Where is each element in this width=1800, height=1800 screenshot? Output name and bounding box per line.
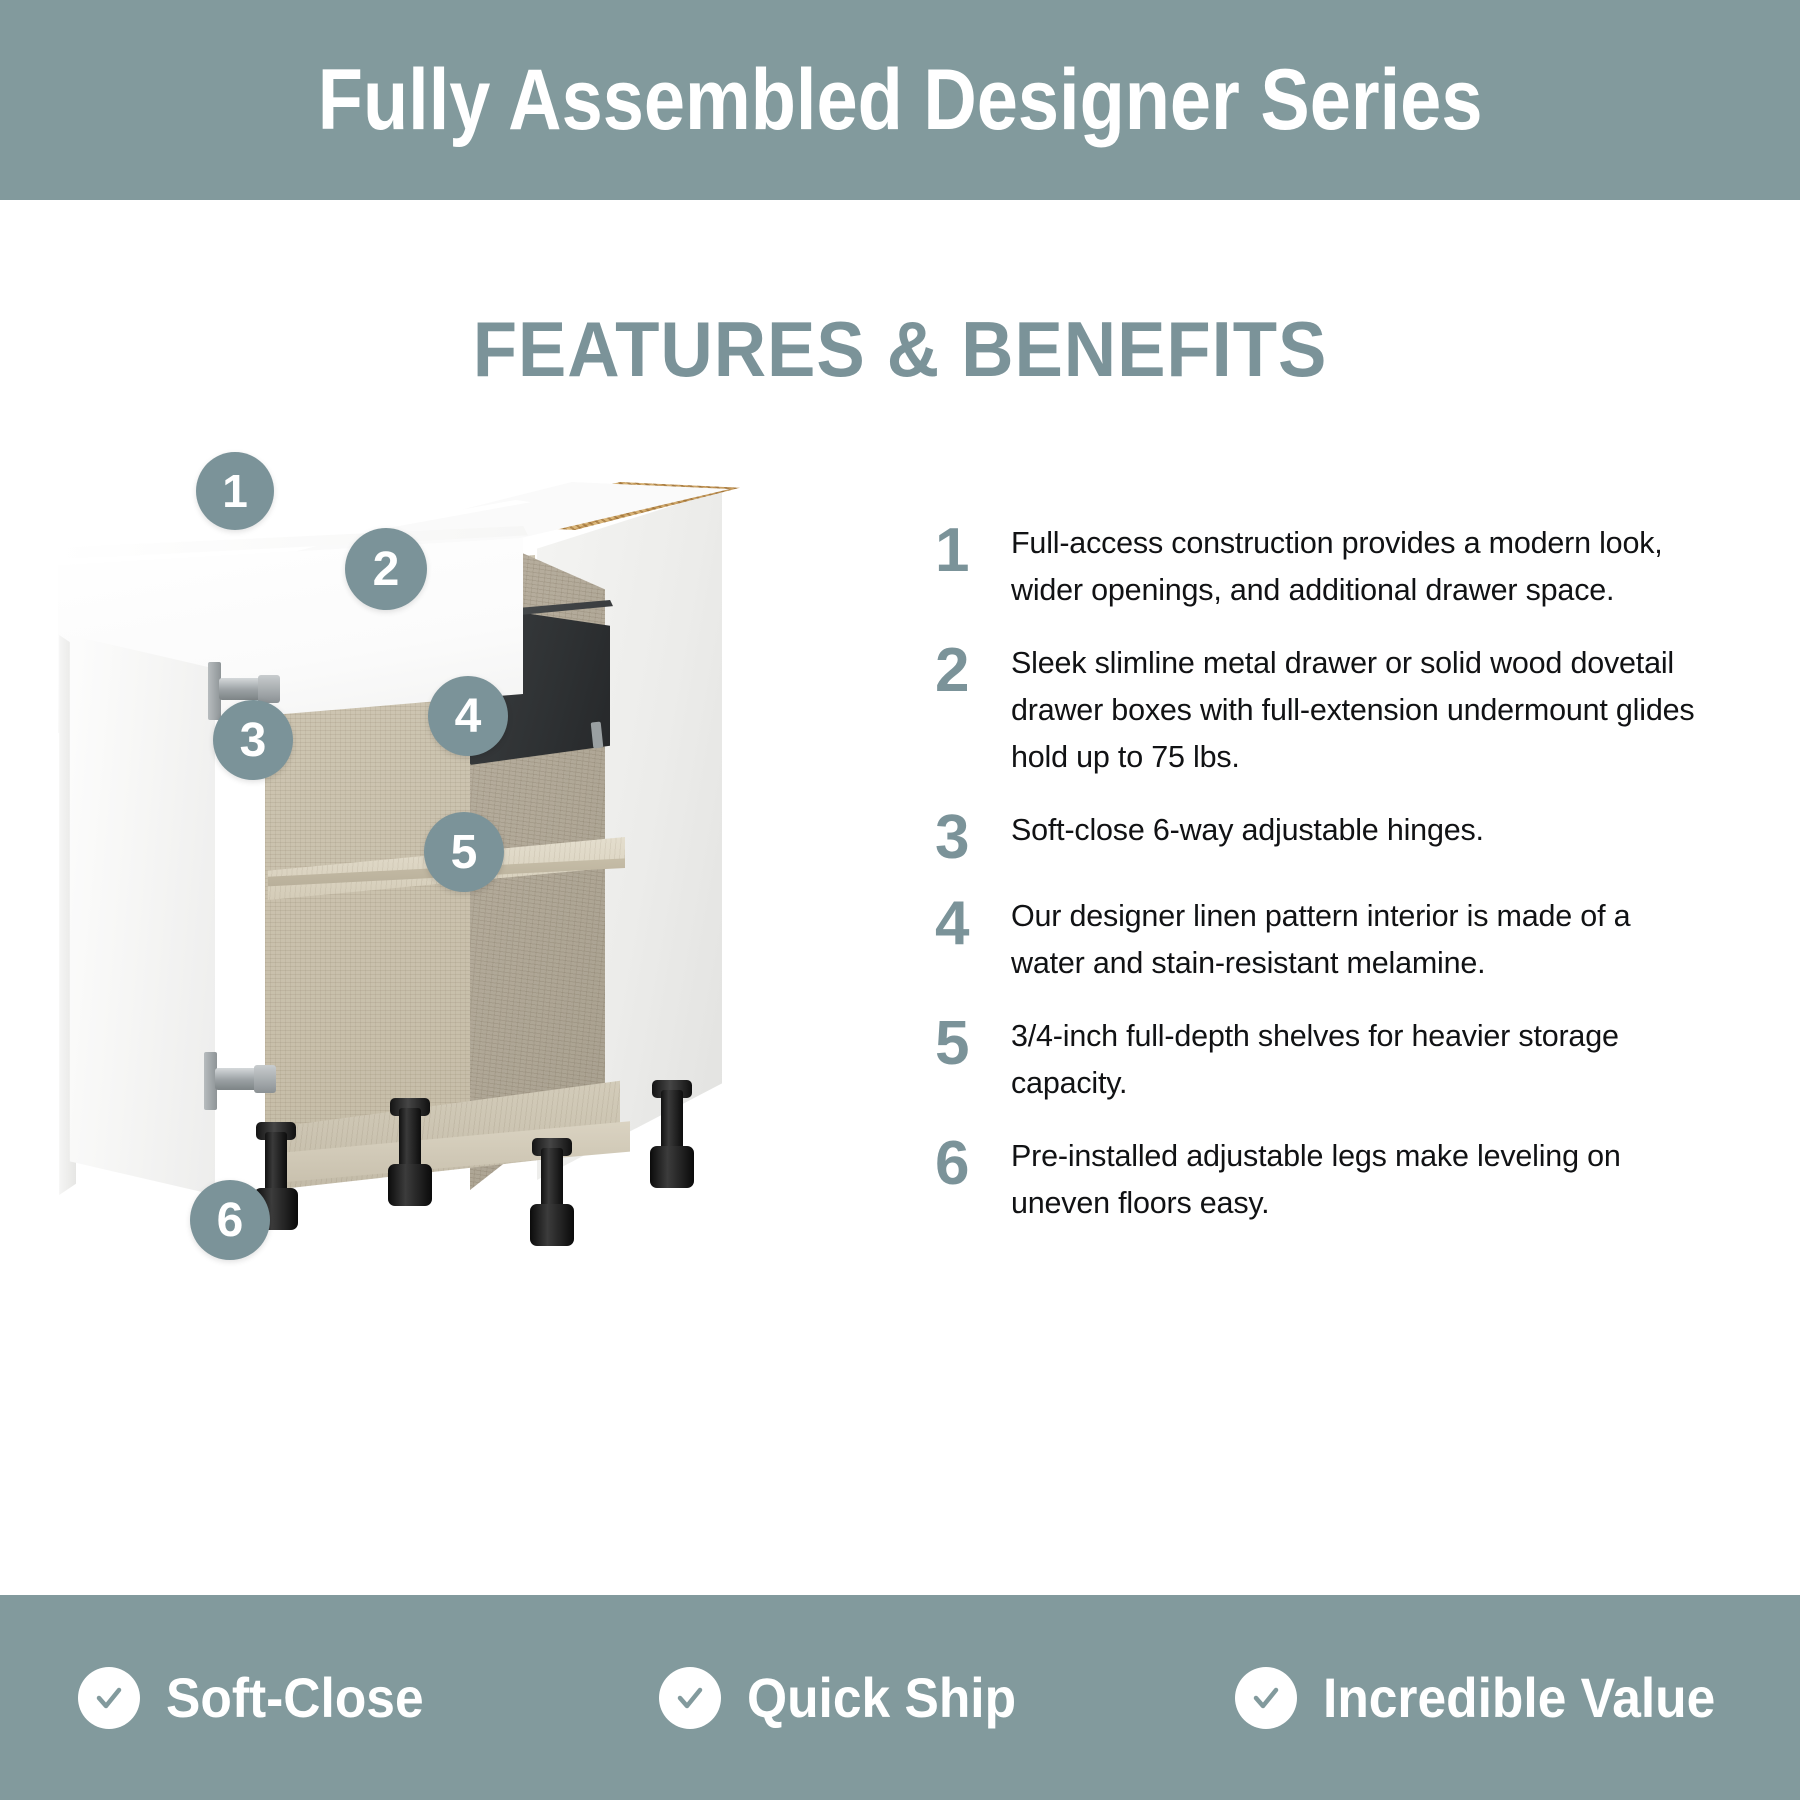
- feature-item-4: 4 Our designer linen pattern interior is…: [935, 893, 1695, 987]
- callout-bubble-2[interactable]: 2: [345, 528, 427, 610]
- feature-number: 1: [935, 520, 1011, 580]
- feature-description: 3/4-inch full-depth shelves for heavier …: [1011, 1013, 1695, 1107]
- feature-description: Soft-close 6-way adjustable hinges.: [1011, 807, 1695, 854]
- feature-item-3: 3 Soft-close 6-way adjustable hinges.: [935, 807, 1695, 867]
- callout-bubble-4[interactable]: 4: [428, 676, 508, 756]
- leg-foot: [530, 1204, 574, 1246]
- check-icon: [1235, 1667, 1297, 1729]
- footer-badge-label: Incredible Value: [1323, 1670, 1715, 1726]
- feature-number: 4: [935, 893, 1011, 953]
- cabinet-graphic: [40, 460, 860, 1400]
- feature-item-6: 6 Pre-installed adjustable legs make lev…: [935, 1133, 1695, 1227]
- section-heading: FEATURES & BENEFITS: [63, 310, 1737, 388]
- leg-foot: [388, 1164, 432, 1206]
- feature-number: 3: [935, 807, 1011, 867]
- check-icon: [78, 1667, 140, 1729]
- open-cabinet-door: [50, 635, 215, 1195]
- callout-bubble-3[interactable]: 3: [213, 700, 293, 780]
- footer-badge-quick-ship: Quick Ship: [643, 1667, 1224, 1729]
- feature-description: Sleek slimline metal drawer or solid woo…: [1011, 640, 1695, 781]
- check-icon: [659, 1667, 721, 1729]
- page-header: Fully Assembled Designer Series: [0, 0, 1800, 200]
- page-title: Fully Assembled Designer Series: [318, 57, 1483, 143]
- feature-number: 2: [935, 640, 1011, 700]
- feature-description: Full-access construction provides a mode…: [1011, 520, 1695, 614]
- footer-badge-incredible-value: Incredible Value: [1225, 1667, 1800, 1729]
- callout-bubble-1[interactable]: 1: [196, 452, 274, 530]
- features-list: 1 Full-access construction provides a mo…: [935, 520, 1695, 1253]
- callout-bubble-6[interactable]: 6: [190, 1180, 270, 1260]
- hinge-cup: [254, 1065, 276, 1093]
- feature-item-5: 5 3/4-inch full-depth shelves for heavie…: [935, 1013, 1695, 1107]
- feature-number: 6: [935, 1133, 1011, 1193]
- footer-badge-soft-close: Soft-Close: [0, 1667, 643, 1729]
- feature-item-2: 2 Sleek slimline metal drawer or solid w…: [935, 640, 1695, 781]
- leg-foot: [650, 1146, 694, 1188]
- hinge-cup: [258, 675, 280, 703]
- feature-item-1: 1 Full-access construction provides a mo…: [935, 520, 1695, 614]
- feature-description: Pre-installed adjustable legs make level…: [1011, 1133, 1695, 1227]
- cabinet-illustration: [40, 460, 860, 1400]
- footer-badge-label: Soft-Close: [166, 1670, 424, 1726]
- page-footer: Soft-Close Quick Ship Incredible Value: [0, 1595, 1800, 1800]
- callout-bubble-5[interactable]: 5: [424, 812, 504, 892]
- feature-number: 5: [935, 1013, 1011, 1073]
- feature-description: Our designer linen pattern interior is m…: [1011, 893, 1695, 987]
- footer-badge-label: Quick Ship: [747, 1670, 1016, 1726]
